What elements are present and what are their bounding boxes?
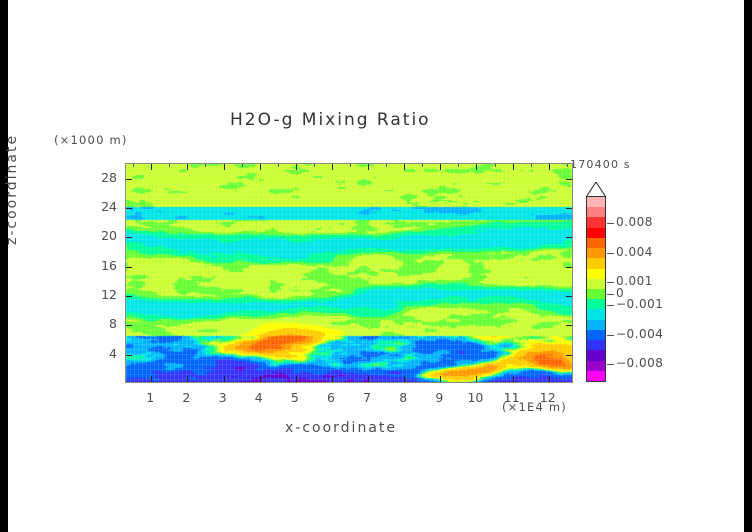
- y-axis-unit-label: (×1000 m): [54, 133, 128, 147]
- colorbar-tick: [607, 223, 614, 224]
- x-axis-tick-label: 3: [210, 390, 236, 405]
- y-axis-tick: [126, 237, 132, 238]
- colorbar-segment: [587, 289, 605, 300]
- colorbar-tick: [607, 294, 614, 295]
- y-axis-tick-label: 12: [91, 287, 117, 302]
- x-axis-tick: [151, 164, 152, 170]
- y-axis-tick: [126, 296, 132, 297]
- colorbar-label: −0.004: [616, 327, 663, 341]
- y-axis-tick: [126, 208, 132, 209]
- x-axis-tick-label: 5: [282, 390, 308, 405]
- contour-plot-area: [125, 163, 573, 383]
- colorbar-segment: [587, 248, 605, 259]
- x-axis-minor-tick: [133, 164, 134, 167]
- colorbar-tick: [607, 364, 614, 365]
- x-axis-tick-label: 6: [318, 390, 344, 405]
- y-axis-tick: [126, 179, 132, 180]
- y-axis-tick-label: 28: [91, 170, 117, 185]
- x-axis-tick: [440, 376, 441, 382]
- x-axis-tick: [260, 376, 261, 382]
- colorbar-segment: [587, 258, 605, 269]
- x-axis-tick: [368, 376, 369, 382]
- x-axis-tick: [296, 376, 297, 382]
- colorbar-label: 0.008: [616, 215, 653, 229]
- colorbar-label: −0.008: [616, 356, 663, 370]
- colorbar-segment: [587, 269, 605, 280]
- x-axis-tick: [476, 376, 477, 382]
- x-axis-tick: [260, 164, 261, 170]
- colorbar-label: −0.001: [616, 297, 663, 311]
- colorbar-segment: [587, 340, 605, 351]
- y-axis-tick: [126, 325, 132, 326]
- y-axis-tick-label: 16: [91, 258, 117, 273]
- y-axis-tick-label: 24: [91, 199, 117, 214]
- x-axis-tick: [332, 164, 333, 170]
- x-axis-tick-label: 12: [535, 390, 561, 405]
- figure-panel: H2O-g Mixing Ratio (×1000 m) (×1E4 m) 17…: [8, 0, 744, 532]
- x-axis-minor-tick: [350, 164, 351, 167]
- plot-grid-overlay: [126, 164, 572, 382]
- colorbar-tick: [607, 253, 614, 254]
- y-axis-tick: [566, 208, 572, 209]
- y-axis-tick: [566, 296, 572, 297]
- colorbar-segment: [587, 238, 605, 249]
- y-axis-tick-label: 8: [91, 316, 117, 331]
- x-axis-tick: [151, 376, 152, 382]
- x-axis-tick-label: 10: [462, 390, 488, 405]
- x-axis-minor-tick: [495, 164, 496, 167]
- x-axis-minor-tick: [205, 164, 206, 167]
- x-axis-tick: [476, 164, 477, 170]
- colorbar-segment: [587, 279, 605, 290]
- y-axis-tick: [566, 267, 572, 268]
- colorbar-segment: [587, 330, 605, 341]
- colorbar-tick: [607, 305, 614, 306]
- x-axis-tick: [368, 164, 369, 170]
- x-axis-tick: [404, 164, 405, 170]
- x-axis-tick-label: 4: [246, 390, 272, 405]
- colorbar-segment: [587, 207, 605, 218]
- colorbar: [586, 196, 606, 382]
- x-axis-minor-tick: [422, 164, 423, 167]
- colorbar-label: 0.004: [616, 245, 653, 259]
- timestamp-label: 170400 s: [570, 158, 631, 171]
- x-axis-tick: [224, 164, 225, 170]
- colorbar-tick: [607, 282, 614, 283]
- x-axis-minor-tick: [278, 164, 279, 167]
- y-axis-tick: [566, 237, 572, 238]
- x-axis-tick: [332, 376, 333, 382]
- x-axis-tick: [187, 376, 188, 382]
- y-axis-tick: [566, 325, 572, 326]
- colorbar-segment: [587, 361, 605, 372]
- y-axis-tick: [126, 355, 132, 356]
- y-axis-title: z-coordinate: [4, 134, 20, 245]
- colorbar-segment: [587, 309, 605, 320]
- x-axis-tick: [224, 376, 225, 382]
- colorbar-segment: [587, 371, 605, 382]
- x-axis-tick: [513, 376, 514, 382]
- x-axis-tick-label: 8: [390, 390, 416, 405]
- colorbar-cap-icon: [586, 182, 606, 197]
- chart-title: H2O-g Mixing Ratio: [230, 110, 431, 130]
- colorbar-segment: [587, 350, 605, 361]
- x-axis-minor-tick: [242, 164, 243, 167]
- x-axis-tick: [296, 164, 297, 170]
- x-axis-tick-label: 11: [499, 390, 525, 405]
- colorbar-segment: [587, 299, 605, 310]
- x-axis-tick: [549, 164, 550, 170]
- x-axis-minor-tick: [531, 164, 532, 167]
- colorbar-tick: [607, 335, 614, 336]
- colorbar-segment: [587, 228, 605, 239]
- x-axis-tick: [513, 164, 514, 170]
- y-axis-tick: [566, 355, 572, 356]
- colorbar-segment: [587, 197, 605, 208]
- x-axis-tick-label: 7: [354, 390, 380, 405]
- y-axis-tick: [126, 267, 132, 268]
- x-axis-minor-tick: [169, 164, 170, 167]
- x-axis-tick: [549, 376, 550, 382]
- x-axis-minor-tick: [314, 164, 315, 167]
- x-axis-tick: [440, 164, 441, 170]
- colorbar-segment: [587, 320, 605, 331]
- x-axis-minor-tick: [458, 164, 459, 167]
- x-axis-tick-label: 2: [173, 390, 199, 405]
- x-axis-tick: [187, 164, 188, 170]
- y-axis-tick-label: 4: [91, 346, 117, 361]
- x-axis-tick: [404, 376, 405, 382]
- colorbar-segment: [587, 217, 605, 228]
- x-axis-title: x-coordinate: [285, 420, 397, 436]
- y-axis-tick-label: 20: [91, 228, 117, 243]
- x-axis-tick-label: 1: [137, 390, 163, 405]
- y-axis-tick: [566, 179, 572, 180]
- x-axis-tick-label: 9: [426, 390, 452, 405]
- x-axis-minor-tick: [567, 164, 568, 167]
- x-axis-minor-tick: [386, 164, 387, 167]
